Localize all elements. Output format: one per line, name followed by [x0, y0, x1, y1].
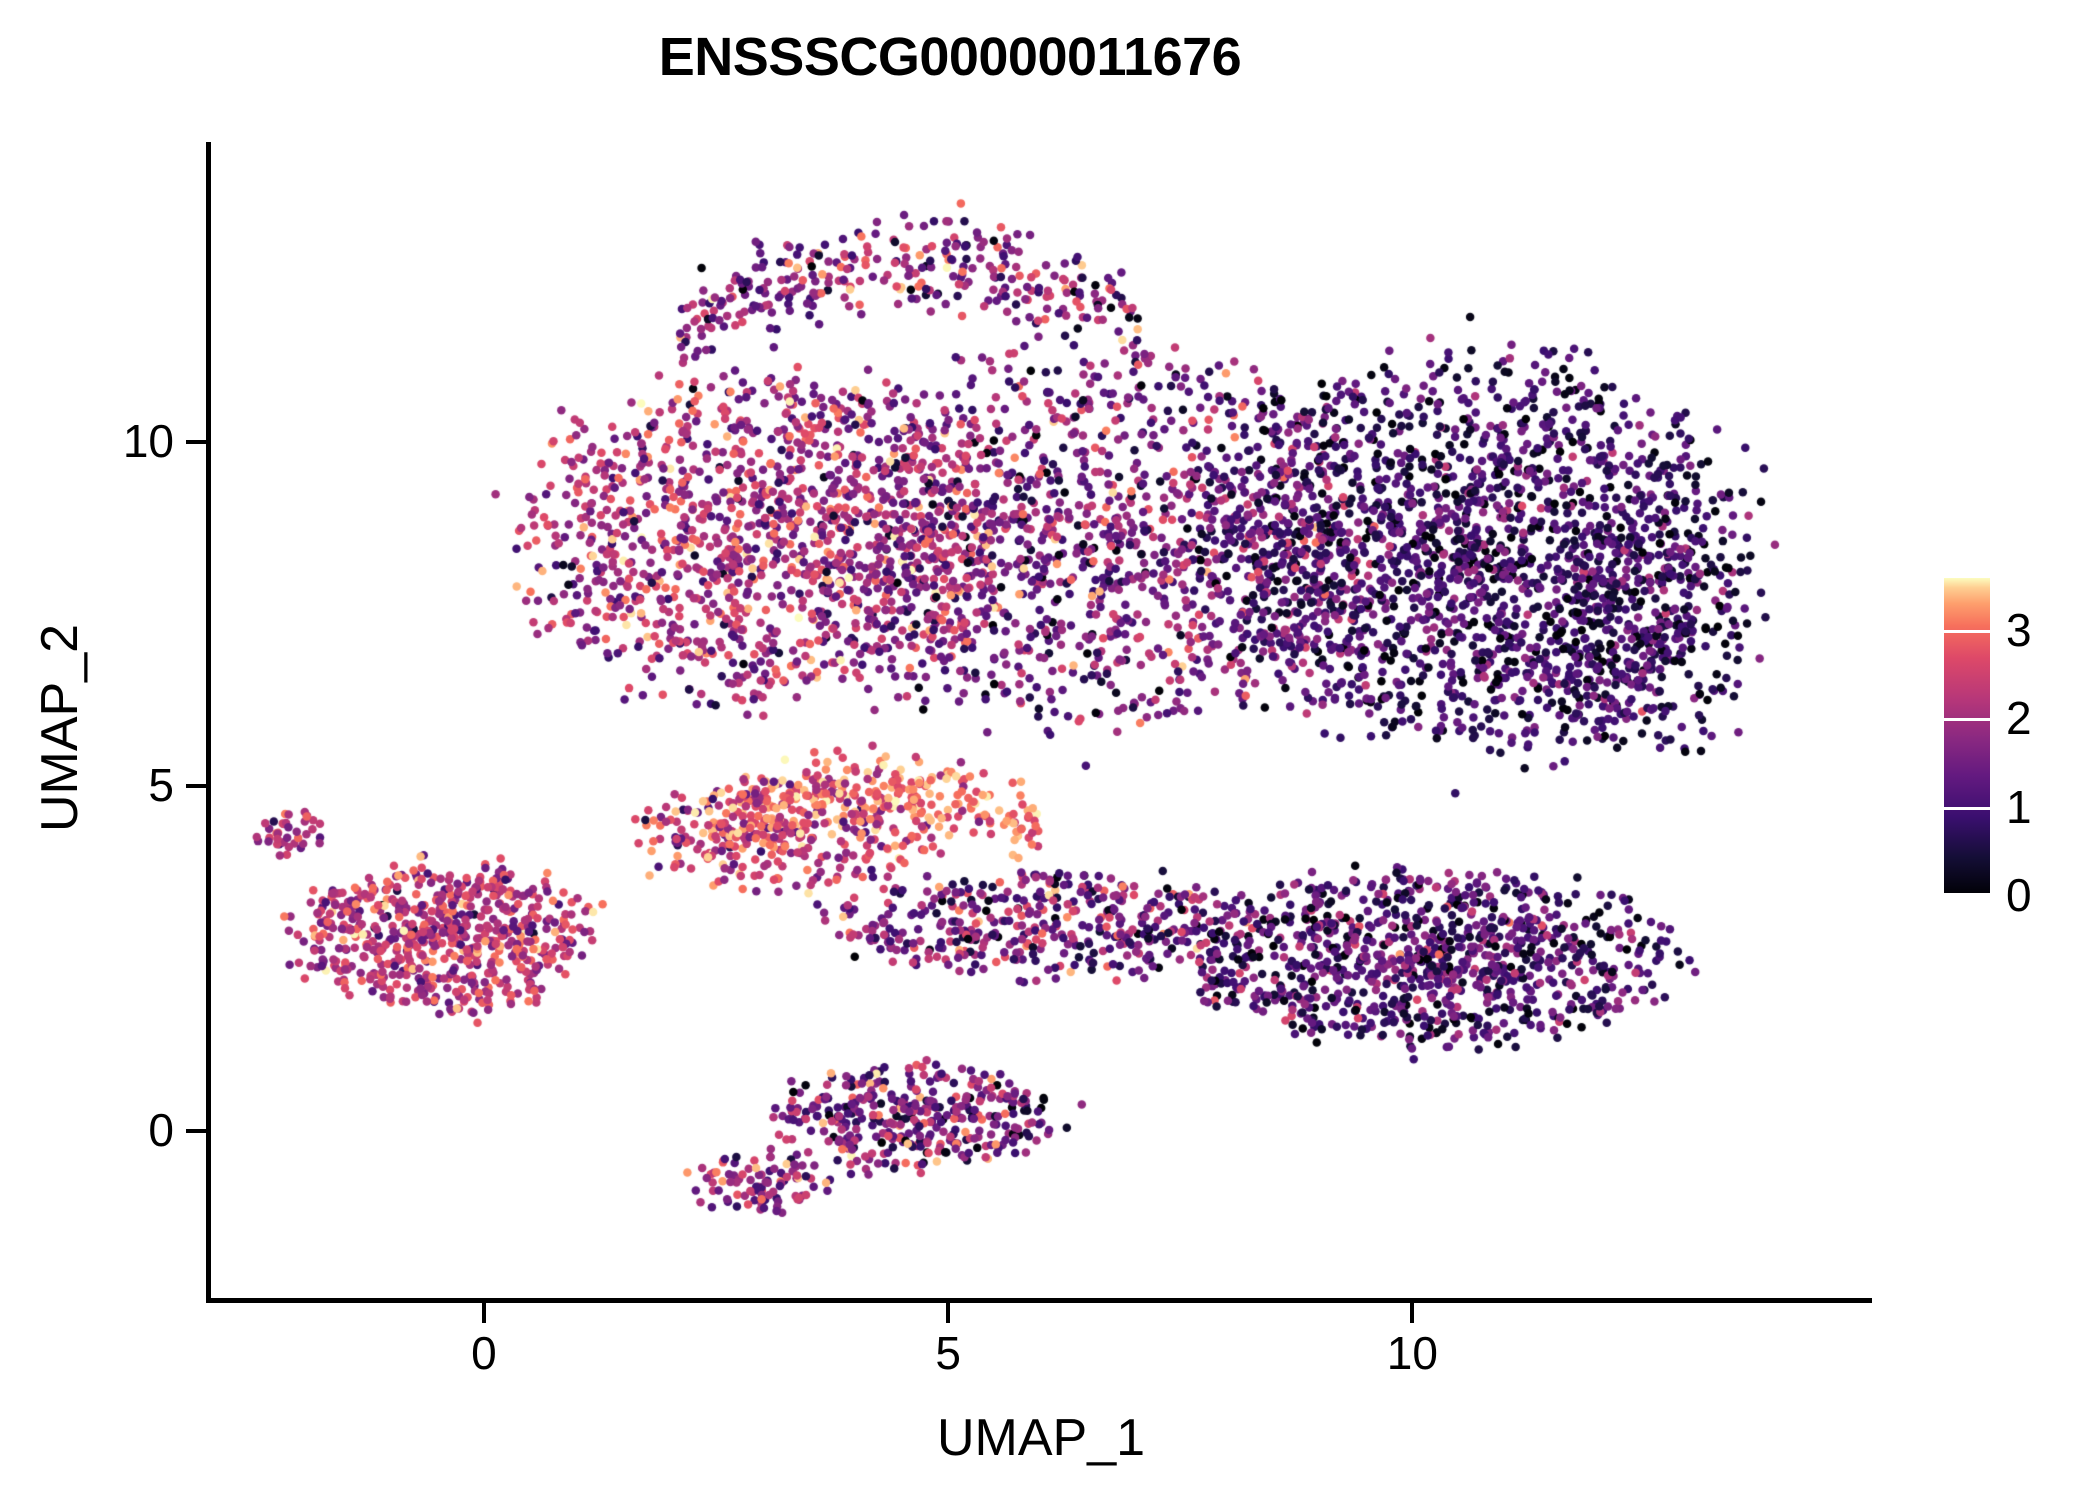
- plot-panel: [210, 142, 1872, 1300]
- x-tick-label: 5: [888, 1330, 1008, 1376]
- colorbar-tick-mark: [1944, 718, 1990, 721]
- y-axis-line: [206, 142, 211, 1302]
- x-axis-line: [206, 1298, 1872, 1303]
- colorbar-tick-label: 1: [2006, 784, 2032, 830]
- colorbar-tick-label: 2: [2006, 695, 2032, 741]
- colorbar-tick-mark: [1944, 807, 1990, 810]
- y-tick-label: 10: [123, 418, 174, 464]
- x-tick-label: 0: [424, 1330, 544, 1376]
- colorbar-gradient: [1944, 578, 1990, 896]
- page-title: ENSSSCG00000011676: [0, 26, 1900, 88]
- x-tick-mark: [482, 1303, 486, 1323]
- y-axis-title: UMAP_2: [30, 148, 90, 1308]
- colorbar-tick-label: 3: [2006, 607, 2032, 653]
- colorbar-tick-label: 0: [2006, 872, 2032, 918]
- y-tick-label: 5: [148, 762, 174, 808]
- y-tick-mark: [186, 784, 206, 788]
- x-axis-title: UMAP_1: [210, 1408, 1872, 1468]
- y-tick-label: 0: [148, 1107, 174, 1153]
- color-legend: 0123: [1944, 578, 2084, 898]
- x-tick-label: 10: [1352, 1330, 1472, 1376]
- y-tick-mark: [186, 1129, 206, 1133]
- x-tick-mark: [946, 1303, 950, 1323]
- x-tick-mark: [1410, 1303, 1414, 1323]
- umap-feature-plot: ENSSSCG00000011676 0510 0510 UMAP_1 UMAP…: [0, 0, 2100, 1500]
- y-tick-mark: [186, 440, 206, 444]
- scatter-points-canvas: [210, 142, 1872, 1300]
- colorbar-tick-mark: [1944, 630, 1990, 633]
- colorbar-tick-mark: [1944, 893, 1990, 896]
